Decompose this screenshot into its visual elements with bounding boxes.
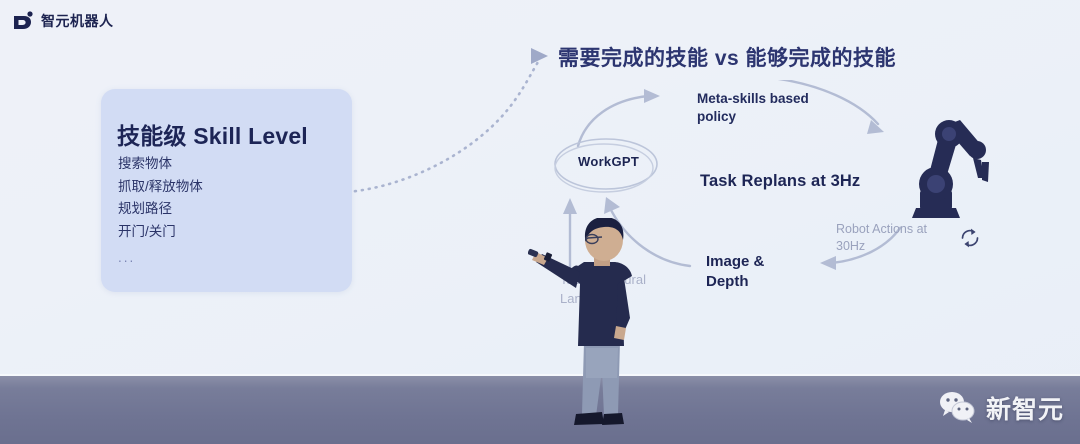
list-item: 开门/关门 (118, 221, 203, 244)
watermark: 新智元 (938, 390, 1064, 426)
aimoji-d-logo-icon (12, 10, 34, 32)
brand-logo: 智元机器人 (12, 10, 114, 32)
label-image-depth: Image & Depth (706, 252, 764, 292)
watermark-text: 新智元 (986, 390, 1064, 426)
list-item: 规划路径 (118, 198, 203, 221)
brand-name: 智元机器人 (41, 11, 114, 31)
label-meta-skills-policy: Meta-skills based policy (697, 90, 809, 126)
refresh-loop-icon (958, 226, 982, 250)
skill-list: 搜索物体 抓取/释放物体 规划路径 开门/关门 ... (118, 153, 203, 270)
page-title: 需要完成的技能 vs 能够完成的技能 (558, 42, 896, 72)
label-robot-actions: Robot Actions at 30Hz (836, 221, 927, 255)
presentation-screenshot: 技能级 Skill Level 搜索物体 抓取/释放物体 规划路径 开门/关门 … (0, 0, 1080, 444)
list-item-ellipsis: ... (118, 243, 203, 270)
presenter-figure (528, 218, 668, 444)
skill-panel-title: 技能级 Skill Level (117, 117, 308, 151)
label-workgpt: WorkGPT (578, 154, 639, 169)
list-item: 抓取/释放物体 (118, 176, 203, 199)
list-item: 搜索物体 (118, 153, 203, 176)
dotted-arrow-icon (340, 40, 570, 215)
label-task-replans: Task Replans at 3Hz (700, 172, 860, 191)
robot-arm-icon (882, 104, 994, 224)
wechat-icon (938, 391, 978, 425)
